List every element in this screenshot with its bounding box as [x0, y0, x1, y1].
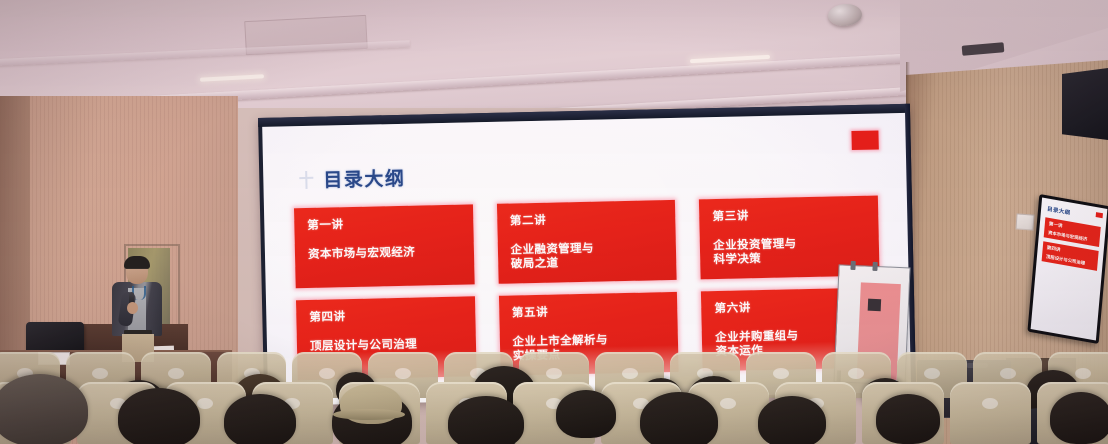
agenda-card-number: 第二讲	[510, 209, 665, 228]
audience-head	[224, 394, 296, 444]
conference-room-photo: 目录大纲 第一讲 资本市场与宏观经济 第二讲 企业融资管理与 破局之道	[0, 0, 1108, 444]
agenda-card: 第二讲 企业融资管理与 破局之道	[497, 200, 677, 284]
cross-mark-icon	[299, 170, 313, 188]
presenter	[108, 258, 166, 362]
audience-head	[0, 374, 88, 444]
agenda-card-line: 资本市场与宏观经济	[308, 245, 463, 262]
agenda-card-number: 第四讲	[309, 306, 464, 325]
wall-mounted-display	[1062, 68, 1108, 140]
audience-head	[1050, 392, 1108, 444]
agenda-card-text: 资本市场与宏观经济	[308, 245, 463, 262]
monitor-brand-logo-icon	[1096, 212, 1103, 218]
agenda-card-number: 第三讲	[712, 205, 867, 224]
slide-title: 目录大纲	[323, 164, 406, 193]
monitor-agenda-card: 第四讲 顶层设计与公司治理	[1042, 241, 1099, 271]
confidence-monitor-screen: 目录大纲 第一讲 资本市场与宏观经济 第四讲 顶层设计与公司治理	[1031, 197, 1108, 340]
audience-head	[758, 396, 826, 444]
agenda-card: 第一讲 资本市场与宏观经济	[294, 204, 474, 288]
slide-title-row: 目录大纲	[299, 164, 406, 193]
audience-cap	[340, 384, 402, 424]
agenda-card-line: 破局之道	[511, 254, 666, 271]
glasses-icon	[127, 268, 147, 273]
confidence-monitor: 目录大纲 第一讲 资本市场与宏观经济 第四讲 顶层设计与公司治理	[1027, 194, 1108, 344]
agenda-card-text: 企业融资管理与 破局之道	[510, 240, 665, 271]
wall-plate	[1015, 213, 1034, 230]
monitor-card-list: 第一讲 资本市场与宏观经济 第四讲 顶层设计与公司治理	[1042, 217, 1101, 271]
audience-head	[640, 392, 718, 444]
brand-logo-icon	[851, 130, 878, 150]
flipchart-clip	[850, 261, 855, 270]
agenda-card-number: 第一讲	[307, 214, 462, 233]
agenda-card-number: 第五讲	[512, 301, 667, 320]
audience-head	[556, 390, 616, 438]
flipchart-marker-smudge	[868, 299, 882, 312]
presenter-hand	[127, 302, 138, 314]
audience	[0, 352, 1108, 444]
flipchart-clip	[872, 262, 877, 271]
seat	[950, 382, 1031, 444]
audience-head	[448, 396, 524, 444]
audience-head	[876, 394, 940, 444]
audience-head	[118, 388, 200, 444]
monitor-slide-title: 目录大纲	[1047, 205, 1071, 217]
